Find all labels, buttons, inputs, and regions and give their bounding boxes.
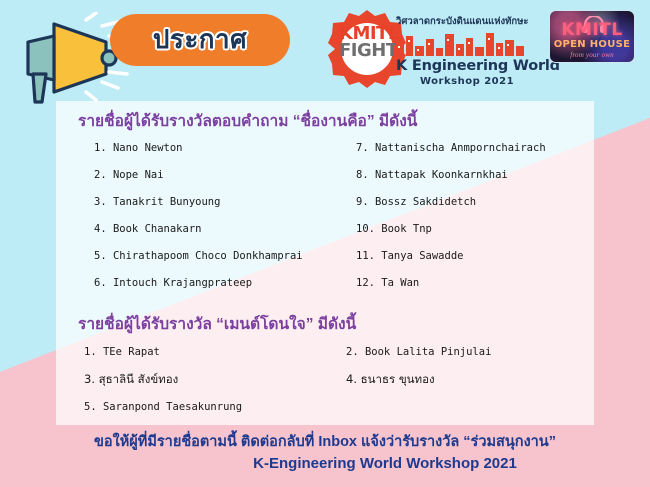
section1-names: 1. Nano Newton 2. Nope Nai 3. Tanakrit B…: [56, 143, 594, 305]
list-item: 4. Book Chanakarn: [94, 224, 303, 235]
announcement-label: ประกาศ: [153, 27, 247, 53]
kmitl-fight-line2: FIGHT: [339, 42, 395, 59]
section2-right-column: 2. Book Lalita Pinjulai 4. ธนาธร ขุนทอง: [346, 347, 491, 402]
section2-heading: รายชื่อผู้ได้รับรางวัล “เมนต์โดนใจ” มีดั…: [56, 305, 594, 336]
open-house-title: KMITL: [550, 22, 634, 39]
list-item: 1. TEe Rapat: [84, 347, 242, 358]
kmitl-fight-thai-tagline: วิศวลาดกระบังดินแดนแห่งทักษะ: [396, 14, 529, 29]
section2-left-column: 1. TEe Rapat 3. สุธาลินี สังข์ทอง 5. Sar…: [84, 347, 242, 429]
list-item: 7. Nattanischa Anmpornchairach: [356, 143, 546, 154]
skyline-icon: [396, 30, 528, 56]
list-item: 5. Chirathapoom Choco Donkhamprai: [94, 251, 303, 262]
section2-names: 1. TEe Rapat 3. สุธาลินี สังข์ทอง 5. Sar…: [56, 347, 594, 429]
section1-right-column: 7. Nattanischa Anmpornchairach 8. Nattap…: [356, 143, 546, 305]
winners-card: รายชื่อผู้ได้รับรางวัลตอบคำถาม “ชื่องานค…: [56, 101, 594, 425]
section1-left-column: 1. Nano Newton 2. Nope Nai 3. Tanakrit B…: [94, 143, 303, 305]
kmitl-fight-workshop: Workshop 2021: [420, 76, 514, 87]
poster-footer: ขอให้ผู้ที่มีรายชื่อตามนี้ ติดต่อกลับที่…: [0, 432, 650, 475]
list-item: 2. Book Lalita Pinjulai: [346, 347, 491, 358]
footer-instruction: ขอให้ผู้ที่มีรายชื่อตามนี้ ติดต่อกลับที่…: [0, 432, 650, 453]
section1-heading: รายชื่อผู้ได้รับรางวัลตอบคำถาม “ชื่องานค…: [56, 110, 594, 133]
megaphone-icon: [10, 12, 130, 104]
list-item: 8. Nattapak Koonkarnkhai: [356, 170, 546, 181]
list-item: 9. Bossz Sakdidetch: [356, 197, 546, 208]
list-item: 11. Tanya Sawadde: [356, 251, 546, 262]
list-item: 2. Nope Nai: [94, 170, 303, 181]
list-item: 6. Intouch Krajangprateep: [94, 278, 303, 289]
footer-event-name: K-Engineering World Workshop 2021: [0, 453, 650, 475]
kmitl-open-house-logo: KMITL OPEN HOUSE from your own: [549, 10, 635, 63]
announcement-banner: ประกาศ: [110, 14, 290, 66]
list-item: 1. Nano Newton: [94, 143, 303, 154]
poster-header: ประกาศ KMITL FIGHT วิศวลาดกระบังดินแดนแห…: [0, 0, 650, 101]
open-house-script: from your own: [550, 51, 634, 59]
poster-canvas: ประกาศ KMITL FIGHT วิศวลาดกระบังดินแดนแห…: [0, 0, 650, 487]
list-item: 12. Ta Wan: [356, 278, 546, 289]
list-item: 3. สุธาลินี สังข์ทอง: [84, 374, 242, 386]
open-house-subtitle: OPEN HOUSE: [550, 40, 634, 50]
list-item: 5. Saranpond Taesakunrung: [84, 402, 242, 413]
kmitl-fight-logo: KMITL FIGHT วิศวลาดกระบังดินแดนแห่งทักษะ: [328, 8, 528, 96]
list-item: 10. Book Tnp: [356, 224, 546, 235]
kmitl-fight-wordmark: KMITL FIGHT: [339, 25, 395, 59]
list-item: 4. ธนาธร ขุนทอง: [346, 374, 491, 386]
list-item: 3. Tanakrit Bunyoung: [94, 197, 303, 208]
kmitl-fight-english-title: K Engineering World: [396, 58, 560, 74]
